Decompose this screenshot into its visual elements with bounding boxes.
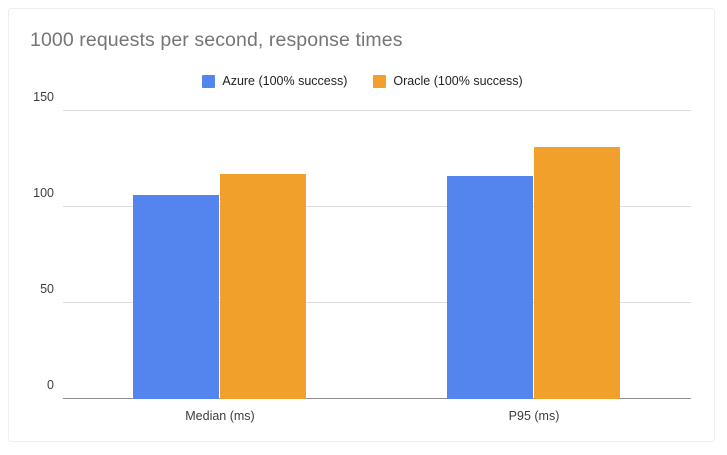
bar[interactable] <box>133 195 219 399</box>
legend-item-oracle[interactable]: Oracle (100% success) <box>373 74 522 88</box>
legend-swatch-azure-icon <box>202 75 215 88</box>
chart-card: 1000 requests per second, response times… <box>8 8 715 442</box>
bar[interactable] <box>534 147 620 399</box>
y-axis-tick-label: 0 <box>47 378 54 392</box>
legend-label-oracle: Oracle (100% success) <box>393 74 522 88</box>
legend-item-azure[interactable]: Azure (100% success) <box>202 74 347 88</box>
chart-title: 1000 requests per second, response times <box>30 29 403 52</box>
bar[interactable] <box>220 174 306 399</box>
x-axis-tick-label: P95 (ms) <box>509 409 560 423</box>
bar-group <box>447 103 621 399</box>
bar[interactable] <box>447 176 533 399</box>
legend-swatch-oracle-icon <box>373 75 386 88</box>
y-axis-tick-label: 50 <box>40 282 54 296</box>
legend-label-azure: Azure (100% success) <box>222 74 347 88</box>
bar-group <box>133 103 307 399</box>
plot-area: 050100150 Median (ms)P95 (ms) <box>63 103 691 399</box>
y-axis-tick-label: 100 <box>33 186 54 200</box>
x-axis-tick-label: Median (ms) <box>185 409 254 423</box>
chart-legend: Azure (100% success) Oracle (100% succes… <box>9 74 715 88</box>
y-axis-tick-label: 150 <box>33 90 54 104</box>
bars-layer <box>63 103 691 399</box>
